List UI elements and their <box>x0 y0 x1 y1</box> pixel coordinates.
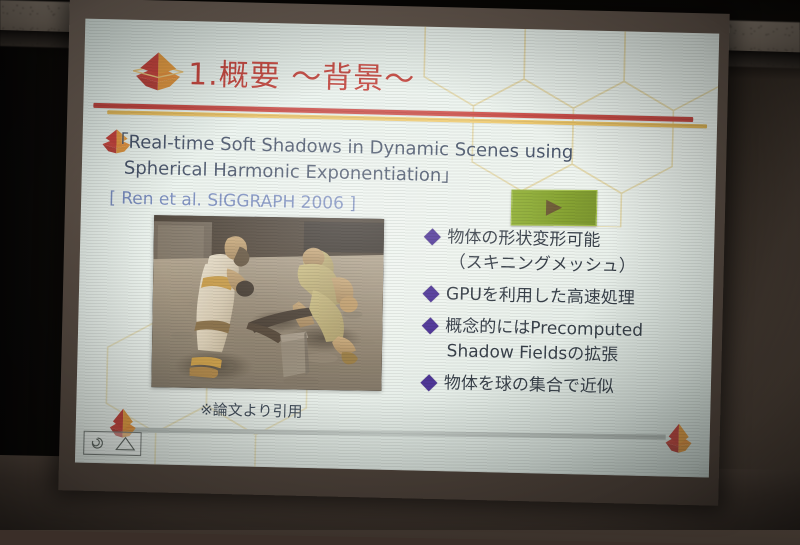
bullet-text: 物体の形状変形可能 （スキニングメッシュ） <box>446 225 636 279</box>
diamond-bullet-icon <box>420 374 437 391</box>
bullet-main: 物体の形状変形可能 <box>447 227 600 251</box>
list-item: 物体を球の集合で近似 <box>423 371 714 403</box>
bullet-sub: （スキニングメッシュ） <box>448 250 636 279</box>
footer-logo <box>83 431 142 456</box>
projection-screen: 1.概要 ～背景～ 「Real-time Soft Shadows in Dyn… <box>58 0 729 506</box>
figure-caption: ※論文より引用 <box>200 398 303 421</box>
bullet-main: GPUを利用した高速処理 <box>446 284 635 308</box>
page-title: 1.概要 ～背景～ <box>188 49 416 98</box>
list-item: 物体の形状変形可能 （スキニングメッシュ） <box>425 225 716 282</box>
list-item: GPUを利用した高速処理 <box>425 282 716 314</box>
triangle-icon <box>114 435 136 452</box>
bullet-main: 物体を球の集合で近似 <box>444 373 614 397</box>
slide-title-row: 1.概要 ～背景～ <box>101 45 662 114</box>
diamond-bullet-icon <box>423 285 440 302</box>
bullet-sub: Shadow Fieldsの拡張 <box>446 339 642 369</box>
bullet-main: 概念的にはPrecomputed <box>445 316 643 341</box>
diamond-bullet-icon <box>422 317 439 334</box>
spiral-icon <box>88 435 106 451</box>
bullet-text: GPUを利用した高速処理 <box>446 282 635 311</box>
bullet-text: 概念的にはPrecomputed Shadow Fieldsの拡張 <box>444 314 643 369</box>
play-triangle-icon <box>546 200 562 216</box>
diamond-bullet-icon <box>424 228 441 245</box>
pyramid-logo-icon <box>130 46 187 95</box>
video-play-thumbnail[interactable] <box>511 190 598 227</box>
list-item: 概念的にはPrecomputed Shadow Fieldsの拡張 <box>423 314 714 371</box>
pyramid-corner-icon-right <box>661 420 696 455</box>
bullet-list: 物体の形状変形可能 （スキニングメッシュ） GPUを利用した高速処理 概念的には… <box>422 225 716 410</box>
bullet-text: 物体を球の集合で近似 <box>444 371 615 400</box>
figure-image <box>151 215 384 391</box>
footer-rule <box>118 427 666 439</box>
presentation-slide: 1.概要 ～背景～ 「Real-time Soft Shadows in Dyn… <box>75 19 719 478</box>
